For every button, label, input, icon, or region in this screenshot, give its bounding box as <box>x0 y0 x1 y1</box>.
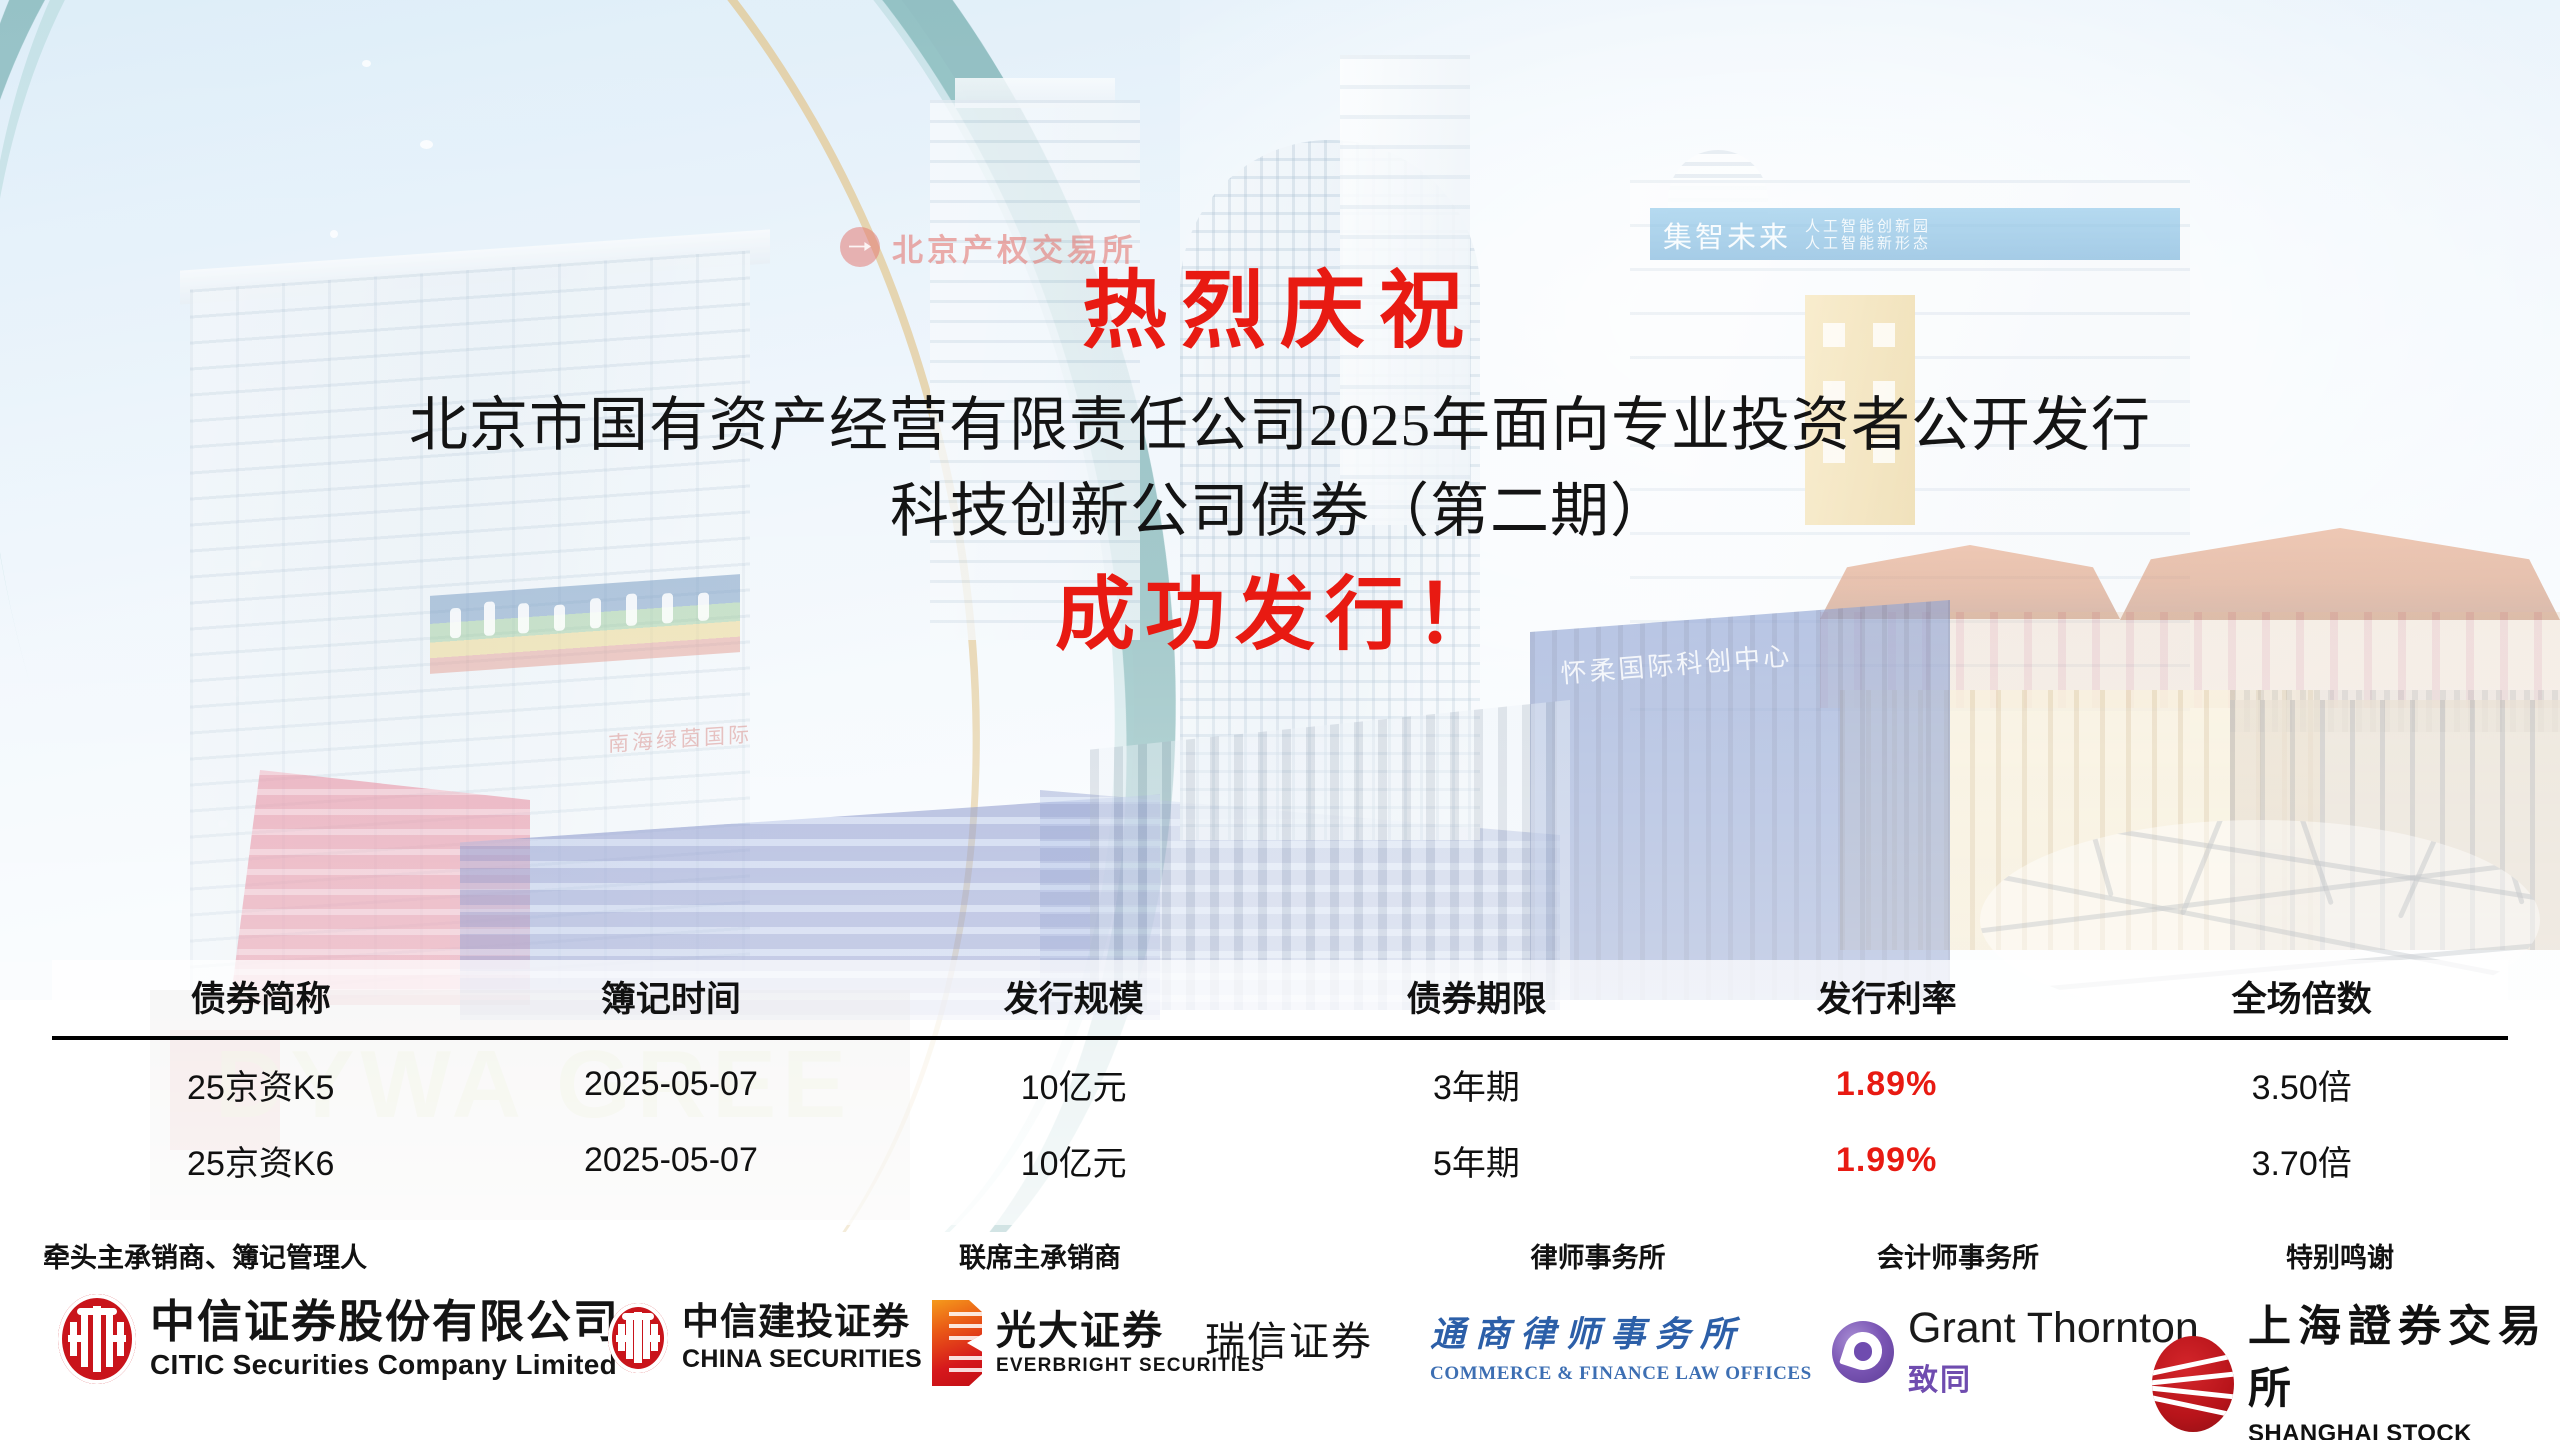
headline-block: 热烈庆祝 北京市国有资产经营有限责任公司2025年面向专业投资者公开发行 科技创… <box>0 268 2560 658</box>
logo-ruixin-securities[interactable]: 瑞信证券 <box>1205 1320 1373 1364</box>
cell-tenor: 5年期 <box>1275 1136 1678 1185</box>
footer-partners: 牵头主承销商、簿记管理人 联席主承销商 律师事务所 会计师事务所 特别鸣谢 中信… <box>0 1232 2560 1440</box>
cell-rate: 1.89% <box>1678 1065 2096 1104</box>
celebrate-heading: 热烈庆祝 <box>0 268 2560 357</box>
table-header-row: 债券简称 簿记时间 发行规模 债券期限 发行利率 全场倍数 <box>52 960 2508 1032</box>
issuer-title-line-1: 北京市国有资产经营有限责任公司2025年面向专业投资者公开发行 <box>0 385 2560 466</box>
logo-citic-securities[interactable]: 中信证券股份有限公司 CITIC Securities Company Limi… <box>58 1294 620 1384</box>
table-header-size: 发行规模 <box>872 971 1275 1022</box>
cell-multiple: 3.70倍 <box>2095 1136 2508 1185</box>
cell-book-date: 2025-05-07 <box>470 1141 873 1180</box>
grant-thornton-swirl-icon <box>1832 1321 1894 1383</box>
role-label-accounting-firm: 会计师事务所 <box>1877 1236 2039 1275</box>
celebration-poster: 南海绿茵国际 北京产权交易所 集智未来 人工智能创新园 人工智能新形态 <box>0 0 2560 1440</box>
cell-tenor: 3年期 <box>1275 1060 1678 1109</box>
issuer-title-line-2: 科技创新公司债券（第二期） <box>0 471 2560 552</box>
citic-name-cn: 中信证券股份有限公司 <box>150 1297 620 1347</box>
commerce-finance-name-cn: 通商律师事务所 <box>1430 1306 1812 1357</box>
sse-name-en: SHANGHAI STOCK EXCHANGE <box>2248 1420 2560 1440</box>
cell-book-date: 2025-05-07 <box>470 1065 873 1104</box>
bond-details-table: 债券简称 簿记时间 发行规模 债券期限 发行利率 全场倍数 25京资K5 202… <box>52 960 2508 1198</box>
role-label-special-thanks: 特别鸣谢 <box>2286 1236 2394 1275</box>
sse-oval-icon <box>2152 1336 2234 1432</box>
citic-oval-icon <box>58 1294 136 1384</box>
table-header-bond-name: 债券简称 <box>52 971 470 1022</box>
citic-oval-icon <box>608 1303 668 1373</box>
table-header-rule <box>52 1036 2508 1040</box>
china-securities-name-cn: 中信建投证券 <box>682 1302 922 1343</box>
table-header-multiple: 全场倍数 <box>2095 971 2508 1022</box>
citic-name-en: CITIC Securities Company Limited <box>150 1350 620 1381</box>
logo-grant-thornton[interactable]: Grant Thornton 致同 <box>1832 1304 2199 1399</box>
table-header-book-date: 簿记时间 <box>470 971 873 1022</box>
commerce-finance-name-en: COMMERCE & FINANCE LAW OFFICES <box>1430 1363 1812 1385</box>
table-header-rate: 发行利率 <box>1678 971 2096 1022</box>
role-label-lead-underwriter: 牵头主承销商、簿记管理人 <box>43 1236 367 1275</box>
cell-bond-name: 25京资K6 <box>52 1136 470 1185</box>
logo-shanghai-stock-exchange[interactable]: 上海證券交易所 SHANGHAI STOCK EXCHANGE <box>2152 1292 2560 1440</box>
sse-name-cn: 上海證券交易所 <box>2248 1292 2560 1416</box>
footer-logo-row: 中信证券股份有限公司 CITIC Securities Company Limi… <box>0 1276 2560 1426</box>
logo-commerce-finance[interactable]: 通商律师事务所 COMMERCE & FINANCE LAW OFFICES <box>1430 1306 1812 1385</box>
everbright-e-icon <box>932 1300 982 1386</box>
table-header-tenor: 债券期限 <box>1275 971 1678 1022</box>
cell-multiple: 3.50倍 <box>2095 1060 2508 1109</box>
cell-size: 10亿元 <box>872 1136 1275 1185</box>
footer-role-labels: 牵头主承销商、簿记管理人 联席主承销商 律师事务所 会计师事务所 特别鸣谢 <box>0 1232 2560 1276</box>
success-heading: 成功发行！ <box>0 574 2560 658</box>
cell-rate: 1.99% <box>1678 1141 2096 1180</box>
role-label-joint-underwriters: 联席主承销商 <box>959 1236 1121 1275</box>
logo-china-securities[interactable]: 中信建投证券 CHINA SECURITIES <box>608 1302 922 1373</box>
role-label-law-firm: 律师事务所 <box>1531 1236 1666 1275</box>
cell-size: 10亿元 <box>872 1060 1275 1109</box>
table-row: 25京资K5 2025-05-07 10亿元 3年期 1.89% 3.50倍 <box>52 1046 2508 1122</box>
cell-bond-name: 25京资K5 <box>52 1060 470 1109</box>
table-row: 25京资K6 2025-05-07 10亿元 5年期 1.99% 3.70倍 <box>52 1122 2508 1198</box>
ruixin-name-cn: 瑞信证券 <box>1205 1320 1373 1364</box>
china-securities-name-en: CHINA SECURITIES <box>682 1346 922 1374</box>
